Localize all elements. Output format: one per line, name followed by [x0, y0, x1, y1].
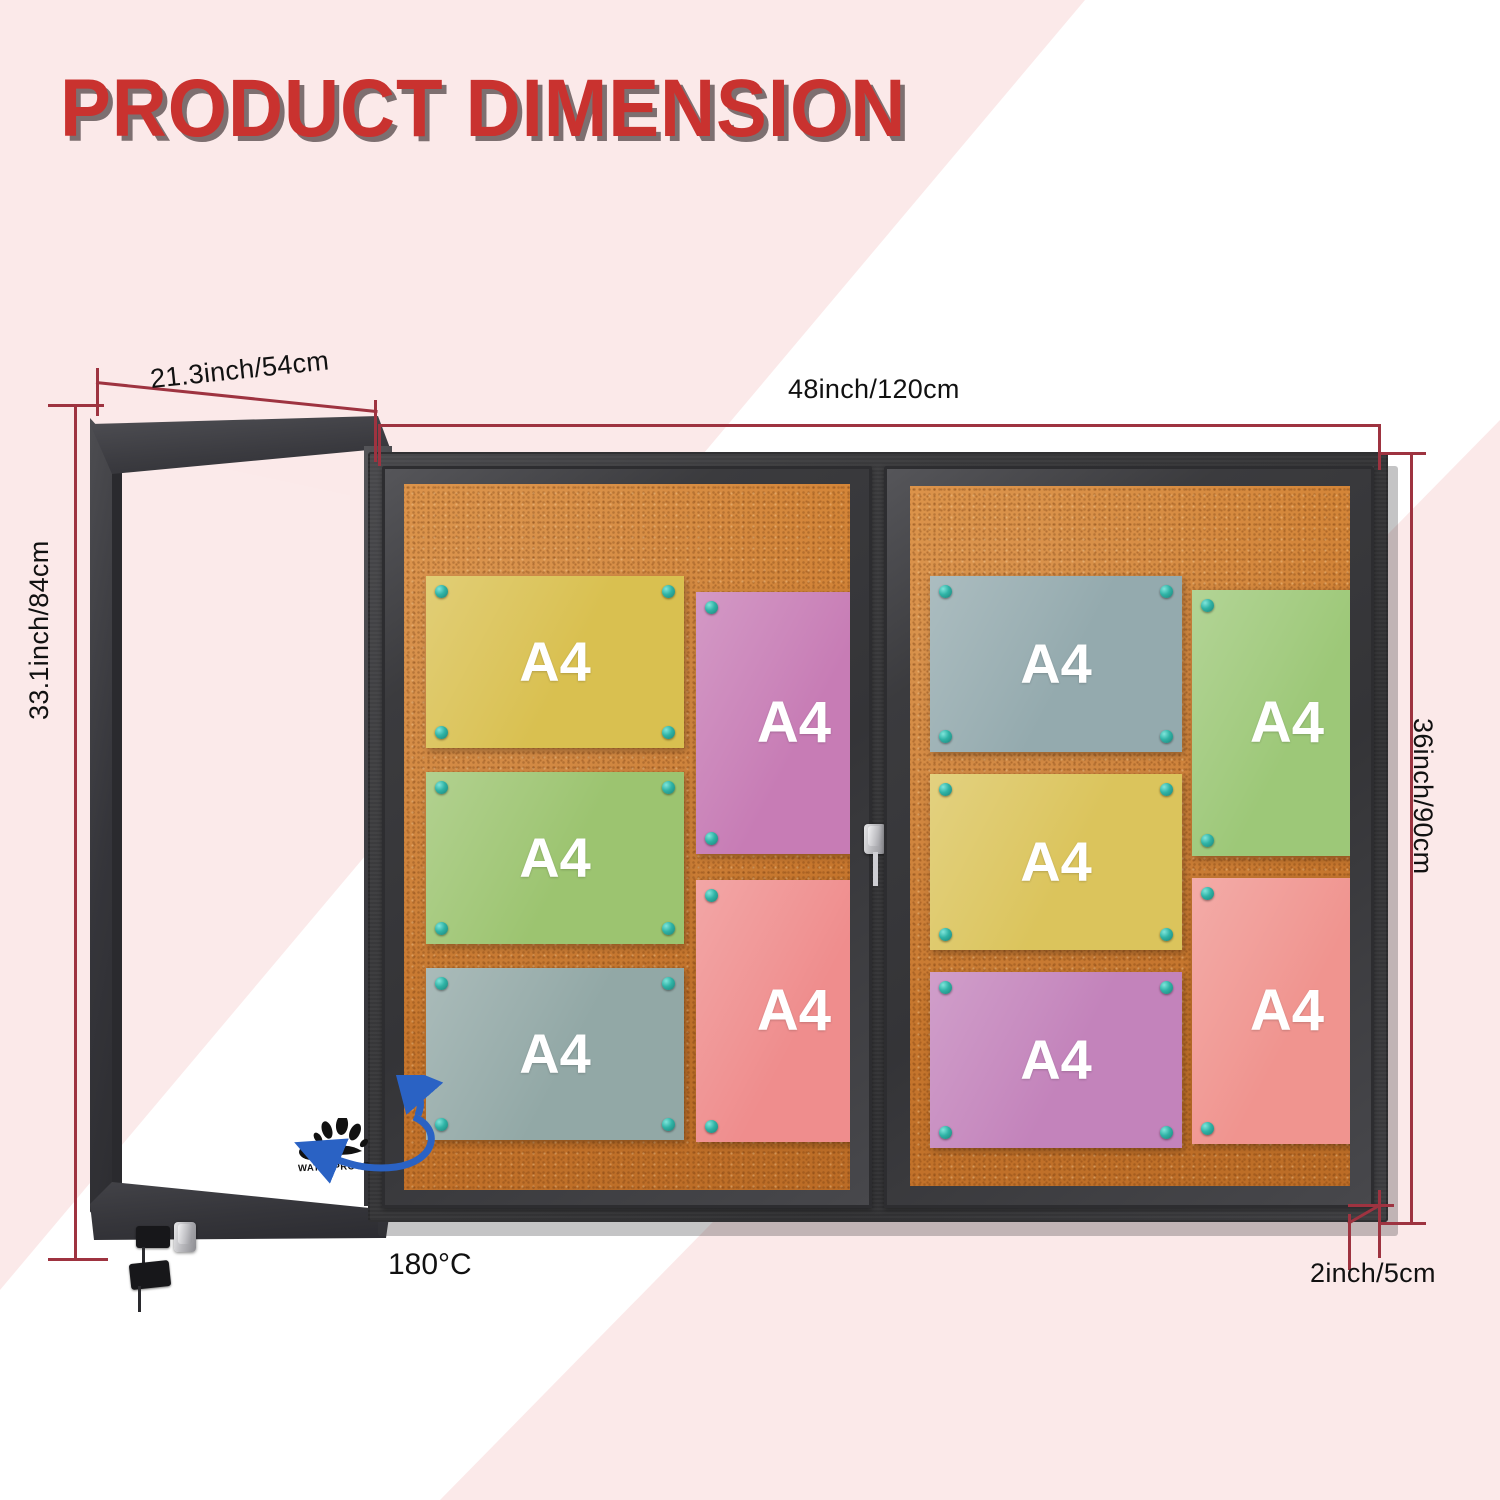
- dim-depth2-line-top: [1348, 1204, 1394, 1207]
- infographic-canvas: PRODUCT DIMENSION A4A4A4A4A4: [0, 0, 1500, 1500]
- swing-angle-label: 180°C: [388, 1248, 472, 1282]
- a4-sheet[interactable]: A4: [930, 774, 1182, 950]
- cabinet-center-lock-key: [873, 852, 878, 886]
- dim-depth2-tick-outer: [1378, 1190, 1381, 1258]
- pushpin-icon: [1160, 928, 1173, 941]
- pushpin-icon: [705, 832, 718, 845]
- a4-sheet[interactable]: A4: [1192, 590, 1350, 856]
- pushpin-icon: [705, 601, 718, 614]
- pushpin-icon: [435, 726, 448, 739]
- door-frame-top-rail: [90, 416, 390, 476]
- a4-sheet[interactable]: A4: [696, 880, 850, 1142]
- dim-depth-tick-left: [96, 368, 99, 416]
- a4-sheet-label: A4: [519, 1026, 591, 1082]
- dim-door-height-line: [74, 404, 77, 1260]
- key-1: [136, 1226, 170, 1248]
- pushpin-icon: [939, 1126, 952, 1139]
- pushpin-icon: [662, 585, 675, 598]
- a4-sheet[interactable]: A4: [930, 576, 1182, 752]
- dim-height-tick-top: [1380, 452, 1426, 455]
- pushpin-icon: [435, 781, 448, 794]
- pushpin-icon: [662, 922, 675, 935]
- bulletin-board-cabinet: A4A4A4A4A4 A4A4A4A4A4: [368, 452, 1388, 1222]
- a4-sheet[interactable]: A4: [930, 972, 1182, 1148]
- a4-sheet-label: A4: [519, 634, 591, 690]
- pushpin-icon: [1201, 887, 1214, 900]
- pushpin-icon: [939, 730, 952, 743]
- a4-sheet-label: A4: [757, 694, 831, 752]
- a4-sheet-label: A4: [1020, 1032, 1092, 1088]
- door-frame-left-inner: [112, 430, 122, 1224]
- dim-width-tick-left: [378, 424, 381, 466]
- pushpin-icon: [435, 922, 448, 935]
- a4-sheet-label: A4: [1250, 982, 1324, 1040]
- pushpin-icon: [1160, 981, 1173, 994]
- a4-sheet[interactable]: A4: [1192, 878, 1350, 1144]
- dim-height-label: 36inch/90cm: [1407, 718, 1438, 874]
- pushpin-icon: [1160, 730, 1173, 743]
- pushpin-icon: [939, 928, 952, 941]
- dim-width-label: 48inch/120cm: [788, 374, 960, 405]
- pushpin-icon: [662, 726, 675, 739]
- pushpin-icon: [1201, 834, 1214, 847]
- pushpin-icon: [1201, 1122, 1214, 1135]
- dim-width-line: [378, 424, 1380, 427]
- dim-height-tick-bottom: [1380, 1222, 1426, 1225]
- pushpin-icon: [435, 1118, 448, 1131]
- a4-sheet[interactable]: A4: [696, 592, 850, 854]
- dim-door-height-tick-bottom: [48, 1258, 108, 1261]
- a4-sheet[interactable]: A4: [426, 772, 684, 944]
- pushpin-icon: [435, 977, 448, 990]
- a4-sheet-label: A4: [1020, 636, 1092, 692]
- pushpin-icon: [939, 981, 952, 994]
- pushpin-icon: [662, 977, 675, 990]
- a4-sheet-label: A4: [757, 982, 831, 1040]
- pushpin-icon: [1160, 585, 1173, 598]
- a4-sheet-label: A4: [1020, 834, 1092, 890]
- pushpin-icon: [662, 781, 675, 794]
- door-lock-knob[interactable]: [178, 1224, 192, 1244]
- a4-sheet-label: A4: [1250, 694, 1324, 752]
- pushpin-icon: [662, 1118, 675, 1131]
- pushpin-icon: [705, 889, 718, 902]
- key-2: [129, 1260, 171, 1290]
- pushpin-icon: [1160, 783, 1173, 796]
- pushpin-icon: [1201, 599, 1214, 612]
- page-title-text: PRODUCT DIMENSION: [60, 68, 906, 150]
- key-2-blade: [138, 1286, 141, 1312]
- dim-door-height-label: 33.1inch/84cm: [24, 540, 55, 720]
- a4-sheet-label: A4: [519, 830, 591, 886]
- pushpin-icon: [939, 783, 952, 796]
- page-title: PRODUCT DIMENSION: [60, 68, 970, 150]
- pushpin-icon: [705, 1120, 718, 1133]
- pane-right-cork-surface: A4A4A4A4A4: [910, 486, 1350, 1186]
- pushpin-icon: [939, 585, 952, 598]
- a4-sheet[interactable]: A4: [426, 576, 684, 748]
- cabinet-center-lock-knob[interactable]: [868, 826, 882, 846]
- pushpin-icon: [435, 585, 448, 598]
- pushpin-icon: [1160, 1126, 1173, 1139]
- dim-depth2-label: 2inch/5cm: [1310, 1258, 1436, 1289]
- dim-width-tick-right: [1378, 424, 1381, 470]
- pane-right[interactable]: A4A4A4A4A4: [884, 466, 1374, 1208]
- door-frame-left-stile: [90, 418, 112, 1236]
